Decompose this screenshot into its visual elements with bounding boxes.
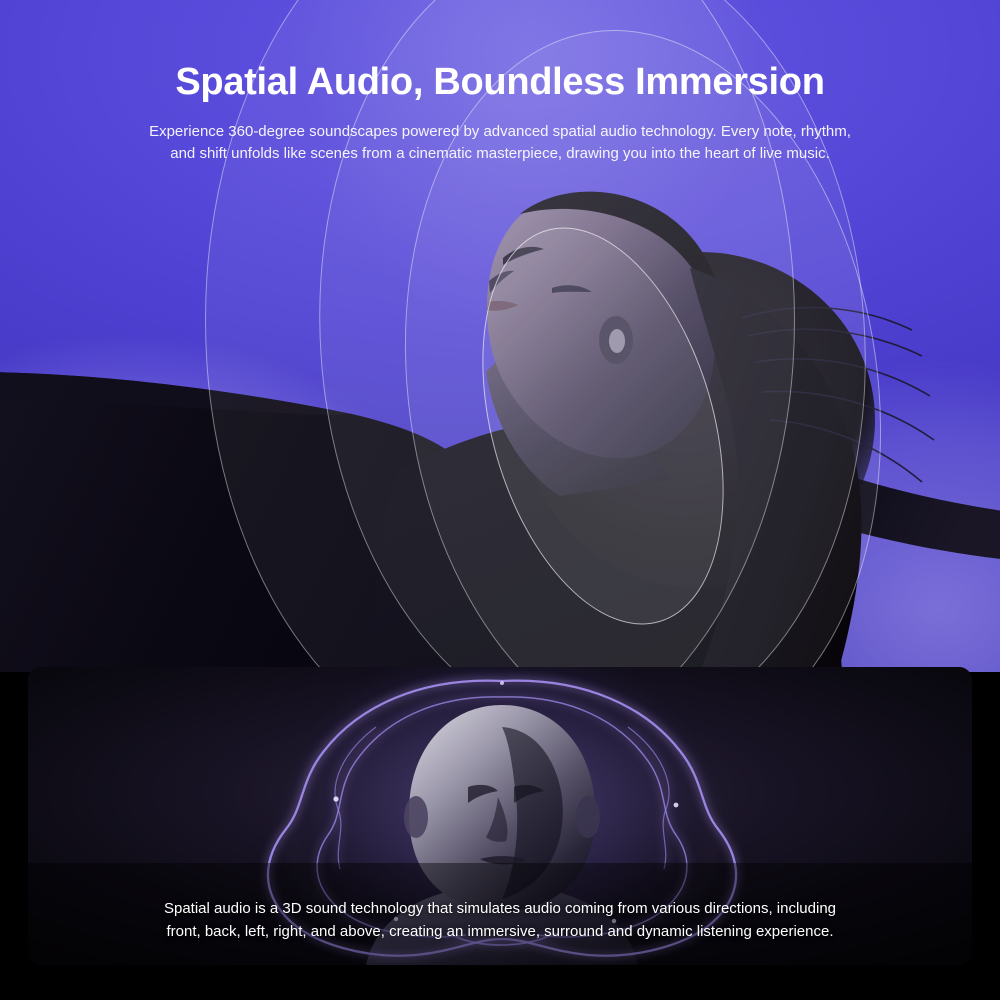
- hero-subtitle: Experience 360-degree soundscapes powere…: [85, 121, 915, 165]
- card-caption: Spatial audio is a 3D sound technology t…: [28, 897, 972, 943]
- card-caption-line-1: Spatial audio is a 3D sound technology t…: [28, 897, 972, 920]
- hero-subtitle-line-1: Experience 360-degree soundscapes powere…: [85, 121, 915, 143]
- hero-subtitle-line-2: and shift unfolds like scenes from a cin…: [85, 143, 915, 165]
- page-title: Spatial Audio, Boundless Immersion: [0, 60, 1000, 105]
- spatial-audio-info-card: Spatial audio is a 3D sound technology t…: [28, 667, 972, 965]
- spatial-audio-promo-page: Spatial Audio, Boundless Immersion Exper…: [0, 0, 1000, 1000]
- hero-text-block: Spatial Audio, Boundless Immersion Exper…: [0, 60, 1000, 165]
- card-ear-left: [404, 796, 428, 838]
- card-caption-line-2: front, back, left, right, and above, cre…: [28, 920, 972, 943]
- hero-section: Spatial Audio, Boundless Immersion Exper…: [0, 0, 1000, 672]
- card-ear-right: [576, 796, 600, 838]
